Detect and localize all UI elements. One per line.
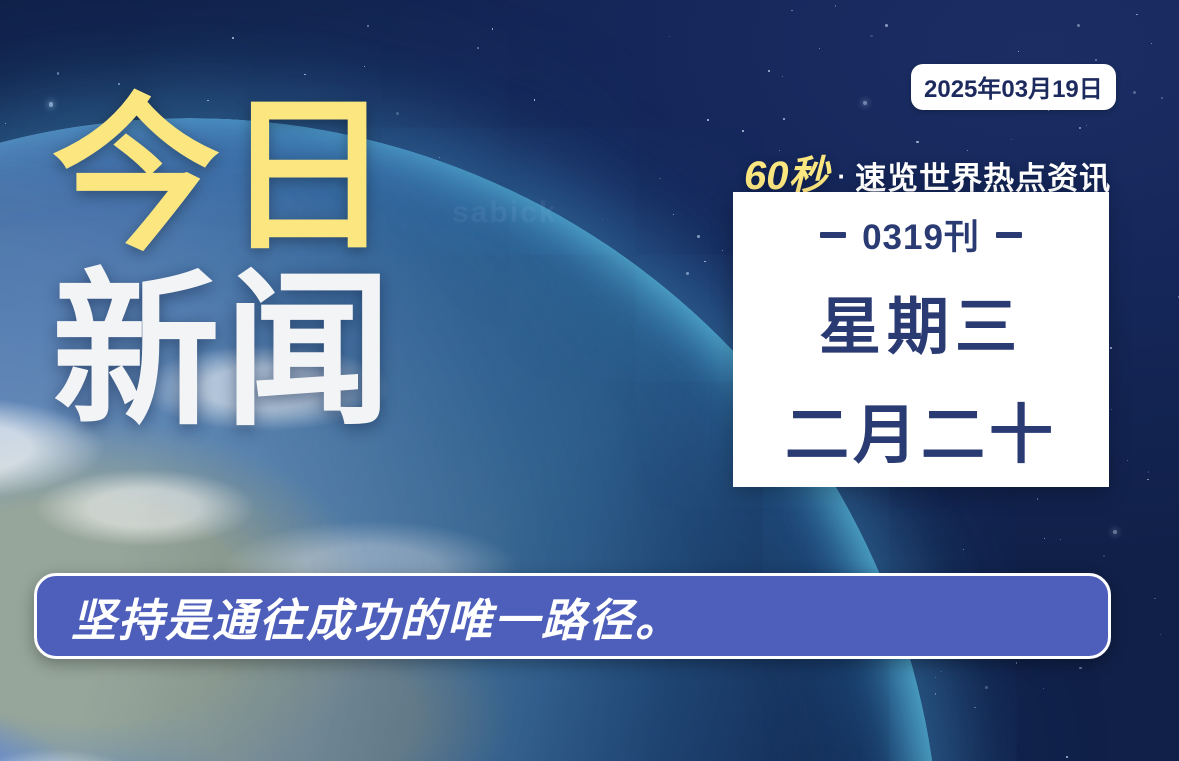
page-title: 今日 新闻	[52, 96, 396, 433]
issue-dash-left-icon	[820, 232, 846, 238]
issue-row: 0319刊	[820, 209, 1022, 260]
quote-text: 坚持是通往成功的唯一路径。	[71, 584, 682, 649]
news-poster: sabick 今日 新闻 2025年03月19日 60秒 · 速览世界热点资讯 …	[0, 0, 1179, 761]
lunar-date-label: 二月二十	[785, 384, 1057, 476]
quote-bar: 坚持是通往成功的唯一路径。	[34, 573, 1111, 659]
weekday-label: 星期三	[819, 276, 1023, 366]
headline-line-2: 新闻	[52, 271, 396, 432]
tagline-separator-dot: ·	[838, 161, 847, 192]
watermark-text: sabick	[452, 196, 557, 230]
date-badge: 2025年03月19日	[911, 64, 1116, 110]
issue-dash-right-icon	[996, 232, 1022, 238]
issue-number: 0319刊	[862, 209, 980, 260]
date-card: 0319刊 星期三 二月二十	[733, 192, 1109, 487]
headline-line-1: 今日	[52, 96, 396, 257]
